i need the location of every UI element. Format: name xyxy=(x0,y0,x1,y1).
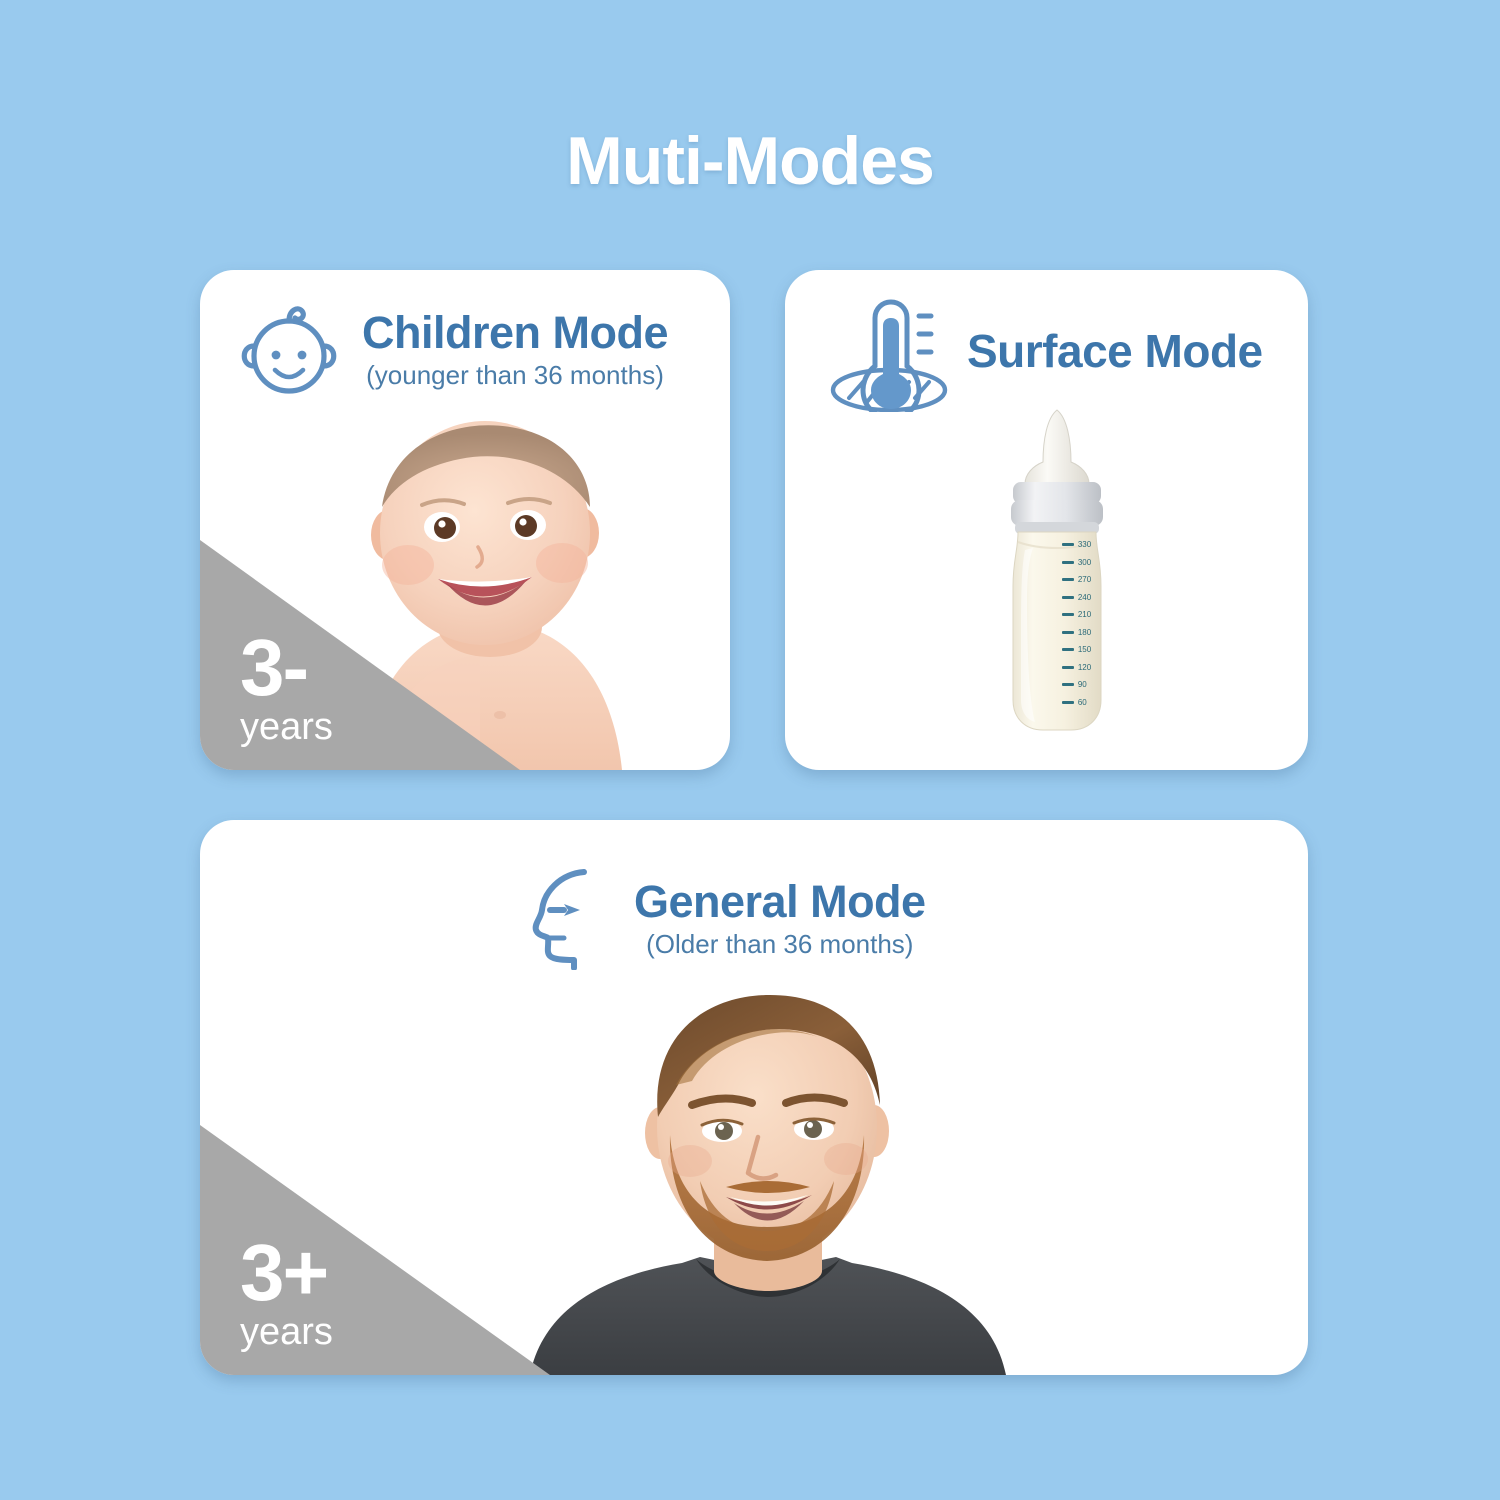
smiling-man-photo xyxy=(500,975,1040,1375)
bottle-mark: 210 xyxy=(1062,606,1091,624)
mark-dash xyxy=(1062,631,1074,634)
card-general-header: General Mode (Older than 36 months) xyxy=(530,868,926,970)
age-value: 3- xyxy=(240,630,333,706)
card-general-title: General Mode xyxy=(634,878,926,925)
mark-value: 210 xyxy=(1078,610,1091,619)
age-label-children: 3- years xyxy=(240,630,333,746)
mark-value: 120 xyxy=(1078,663,1091,672)
bottle-mark: 330 xyxy=(1062,536,1091,554)
bottle-mark: 270 xyxy=(1062,571,1091,589)
age-ribbon-children: 3- years xyxy=(200,540,520,770)
baby-bottle-photo: 330 300 270 240 210 180 150 120 90 60 xyxy=(985,400,1130,740)
card-children-header: Children Mode (younger than 36 months) xyxy=(234,298,668,402)
bottle-mark: 90 xyxy=(1062,676,1091,694)
bottle-mark: 60 xyxy=(1062,694,1091,712)
card-surface-mode[interactable]: 330 300 270 240 210 180 150 120 90 60 xyxy=(785,270,1308,770)
ribbon-triangle xyxy=(200,540,520,770)
mark-dash xyxy=(1062,648,1074,651)
baby-face-icon xyxy=(234,298,344,402)
bottle-mark: 240 xyxy=(1062,589,1091,607)
mark-dash xyxy=(1062,613,1074,616)
thermometer-surface-icon xyxy=(829,294,949,412)
age-unit: years xyxy=(240,1313,333,1351)
card-children-subtitle: (younger than 36 months) xyxy=(366,360,664,391)
age-ribbon-general: 3+ years xyxy=(200,1125,550,1375)
mark-dash xyxy=(1062,666,1074,669)
age-unit: years xyxy=(240,708,333,746)
mark-value: 60 xyxy=(1078,698,1087,707)
mark-dash xyxy=(1062,701,1074,704)
mark-value: 300 xyxy=(1078,558,1091,567)
bottle-mark: 180 xyxy=(1062,624,1091,642)
mark-dash xyxy=(1062,683,1074,686)
card-surface-header: Surface Mode xyxy=(829,294,1263,412)
mark-value: 90 xyxy=(1078,680,1087,689)
infographic-canvas: Muti-Modes xyxy=(0,0,1500,1500)
page-title: Muti-Modes xyxy=(0,122,1500,200)
mark-value: 240 xyxy=(1078,593,1091,602)
mark-value: 270 xyxy=(1078,575,1091,584)
mark-dash xyxy=(1062,561,1074,564)
mark-value: 150 xyxy=(1078,645,1091,654)
ribbon-triangle xyxy=(200,1125,550,1375)
face-profile-icon xyxy=(530,868,616,970)
mark-dash xyxy=(1062,578,1074,581)
bottle-measurement-marks: 330 300 270 240 210 180 150 120 90 60 xyxy=(1062,536,1091,711)
card-children-mode[interactable]: Children Mode (younger than 36 months) 3… xyxy=(200,270,730,770)
mark-dash xyxy=(1062,596,1074,599)
card-children-title: Children Mode xyxy=(362,309,668,356)
bottle-mark: 150 xyxy=(1062,641,1091,659)
mark-value: 180 xyxy=(1078,628,1091,637)
bottle-mark: 120 xyxy=(1062,659,1091,677)
bottle-mark: 300 xyxy=(1062,554,1091,572)
bottle-graphic xyxy=(985,400,1130,740)
card-general-mode[interactable]: General Mode (Older than 36 months) 3+ y… xyxy=(200,820,1308,1375)
mark-value: 330 xyxy=(1078,540,1091,549)
age-value: 3+ xyxy=(240,1235,333,1311)
age-label-general: 3+ years xyxy=(240,1235,333,1351)
mark-dash xyxy=(1062,543,1074,546)
card-surface-title: Surface Mode xyxy=(967,327,1263,375)
smiling-baby-photo xyxy=(350,415,680,770)
card-general-subtitle: (Older than 36 months) xyxy=(646,929,913,960)
